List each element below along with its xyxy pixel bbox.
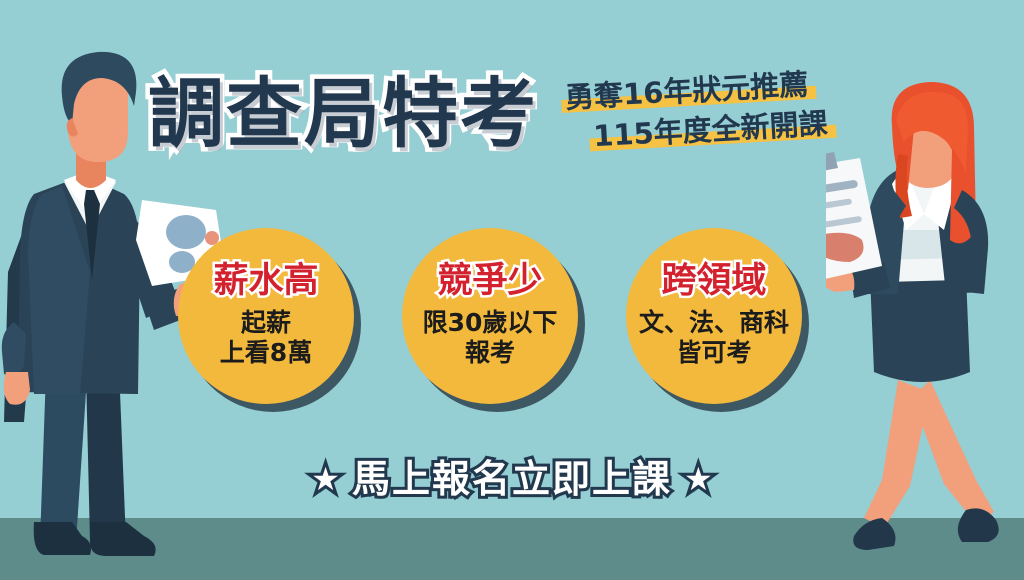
star-icon-right: ★	[684, 460, 713, 498]
cta-banner[interactable]: ★馬上報名立即上課★	[0, 448, 1024, 503]
feature-body: 限30歲以下 報考	[423, 308, 558, 369]
feature-circle-competition[interactable]: 競爭少 限30歲以下 報考	[402, 228, 578, 404]
feature-heading: 薪水高	[213, 264, 318, 299]
feature-body-line: 起薪	[220, 308, 312, 339]
feature-body-line: 上看8萬	[220, 338, 312, 369]
feature-body-line: 報考	[423, 338, 558, 369]
feature-body: 起薪 上看8萬	[220, 308, 312, 369]
page-title: 調查局特考	[148, 76, 538, 152]
feature-body-line: 文、法、商科	[639, 308, 789, 339]
cta-text: 馬上報名立即上課	[352, 457, 672, 501]
businesswoman-illustration	[826, 80, 1024, 580]
promo-banner: 調查局特考 勇奪16年狀元推薦 115年度全新開課 薪水高 起薪 上看8萬 競爭…	[0, 0, 1024, 580]
feature-body: 文、法、商科 皆可考	[639, 308, 789, 369]
star-icon-left: ★	[311, 460, 340, 498]
feature-body-line: 限30歲以下	[423, 308, 558, 339]
feature-heading: 跨領域	[661, 264, 766, 299]
feature-body-line: 皆可考	[639, 338, 789, 369]
feature-circle-salary[interactable]: 薪水高 起薪 上看8萬	[178, 228, 354, 404]
feature-heading: 競爭少	[437, 264, 542, 299]
feature-circle-crossfield[interactable]: 跨領域 文、法、商科 皆可考	[626, 228, 802, 404]
